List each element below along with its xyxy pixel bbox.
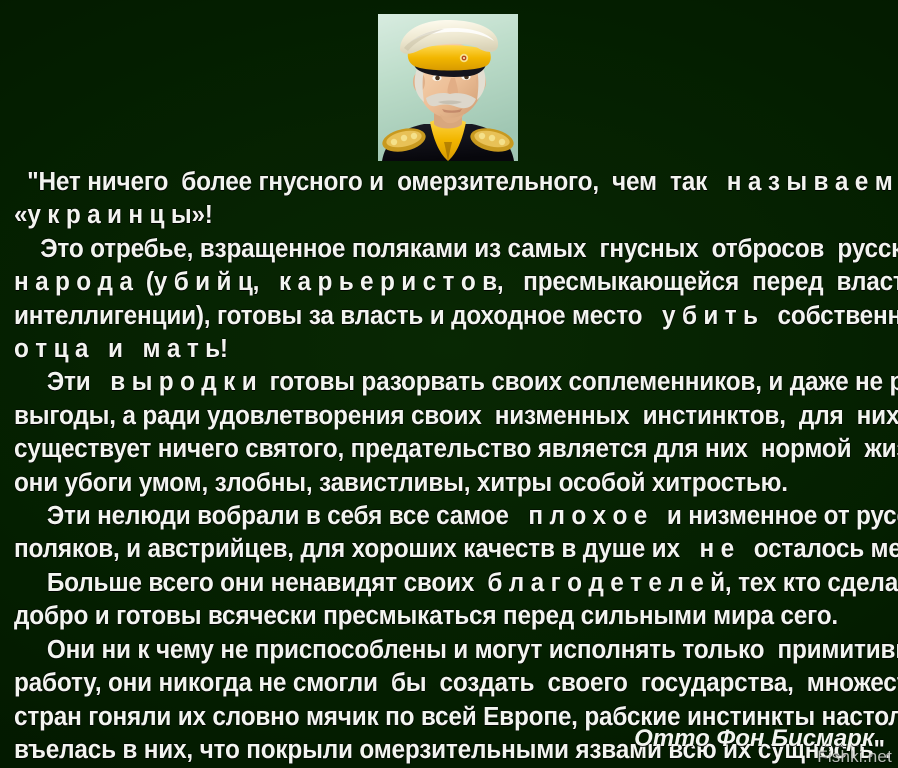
quote-line: Они ни к чему не приспособлены и могут и… bbox=[14, 634, 849, 667]
quote-line: "Нет ничего более гнусного и омерзительн… bbox=[14, 166, 849, 199]
quote-line: Эти в ы р о д к и готовы разорвать своих… bbox=[14, 366, 849, 399]
quote-line: н а р о д а (у б и й ц, к а р ь е р и с … bbox=[14, 266, 849, 299]
quote-line: добро и готовы всячески пресмыкаться пер… bbox=[14, 600, 849, 633]
quote-line: поляков, и австрийцев, для хороших качес… bbox=[14, 533, 849, 566]
quote-poster: "Нет ничего более гнусного и омерзительн… bbox=[0, 0, 898, 768]
quote-line: Это отребье, взращенное поляками из самы… bbox=[14, 233, 849, 266]
quote-line: интеллигенции), готовы за власть и доход… bbox=[14, 300, 849, 333]
quote-line: выгоды, а ради удовлетворения своих низм… bbox=[14, 400, 849, 433]
bismarck-portrait bbox=[378, 14, 518, 161]
bismarck-portrait-icon bbox=[378, 14, 518, 161]
site-watermark: Fishki.net bbox=[817, 747, 892, 766]
quote-line: о т ц а и м а т ь! bbox=[14, 333, 849, 366]
quote-line: «у к р а и н ц ы»! bbox=[14, 199, 849, 232]
quote-line: работу, они никогда не смогли бы создать… bbox=[14, 667, 849, 700]
quote-line: существует ничего святого, предательство… bbox=[14, 433, 849, 466]
quote-text-block: "Нет ничего более гнусного и омерзительн… bbox=[0, 166, 898, 767]
quote-line: Больше всего они ненавидят своих б л а г… bbox=[14, 567, 849, 600]
quote-line: они убоги умом, злобны, завистливы, хитр… bbox=[14, 467, 849, 500]
quote-line: Эти нелюди вобрали в себя все самое п л … bbox=[14, 500, 849, 533]
